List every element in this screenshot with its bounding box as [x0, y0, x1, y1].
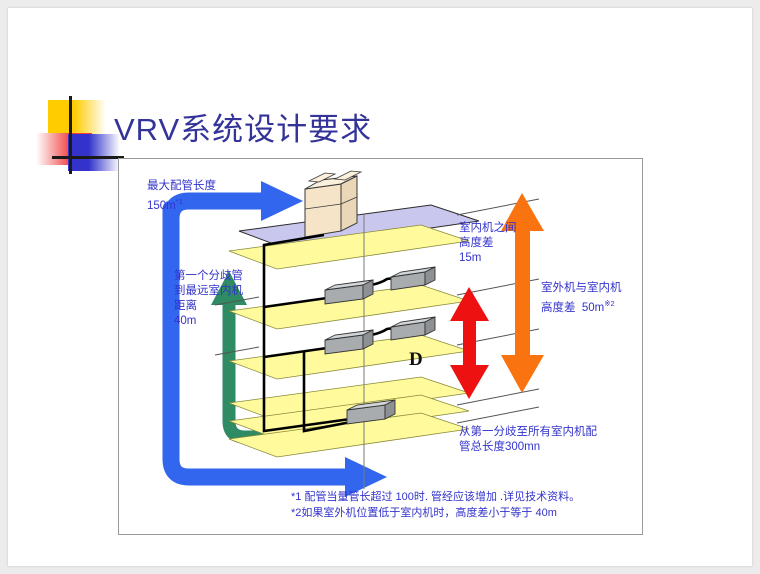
label-indoor-height-diff-line1: 室内机之间: [459, 221, 517, 236]
label-indoor-height-diff: 室内机之间 高度差 15m: [459, 221, 517, 266]
footnote-1: *1 配管当量管长超过 100时. 管经应该增加 .详见技术资料。: [291, 489, 580, 505]
label-max-pipe-length-line1: 最大配管长度: [147, 179, 216, 194]
leader-line-floor6: [457, 407, 539, 423]
label-first-branch-value: 40m: [174, 314, 243, 329]
label-max-pipe-length-value: 150m: [147, 200, 176, 212]
label-total-pipe-length: 从第一分歧至所有室内机配 管总长度300mn: [459, 425, 597, 455]
label-first-branch-line2: 到最远室内机: [174, 284, 243, 299]
vrv-system-diagram: [119, 159, 644, 536]
label-indoor-height-diff-value: 15m: [459, 251, 517, 266]
label-total-pipe-length-line1: 从第一分歧至所有室内机配: [459, 425, 597, 440]
label-total-pipe-length-line2: 管总长度300mn: [459, 440, 597, 455]
label-outdoor-indoor-height-diff-line1: 室外机与室内机: [541, 281, 622, 296]
label-outdoor-indoor-height-diff-line2: 高度差: [541, 302, 576, 314]
logo-horizontal-line: [52, 156, 124, 159]
label-outdoor-indoor-height-diff-sup: ※2: [604, 299, 614, 308]
red-double-arrow: [450, 287, 489, 399]
logo-blue-square: [68, 134, 120, 171]
indoor-unit: [391, 317, 435, 340]
label-first-branch-line3: 距离: [174, 299, 243, 314]
indoor-unit: [391, 267, 435, 290]
presentation-slide: VRV系统设计要求: [8, 8, 752, 566]
footnotes: *1 配管当量管长超过 100时. 管经应该增加 .详见技术资料。 *2如果室外…: [291, 489, 580, 521]
distance-marker-d: D: [409, 349, 423, 371]
label-outdoor-indoor-height-diff: 室外机与室内机 高度差 50m※2: [541, 281, 622, 316]
label-max-pipe-length: 最大配管长度 150m*1: [147, 179, 216, 214]
decorative-squares-logo: [36, 96, 124, 174]
diagram-frame: 最大配管长度 150m*1 第一个分歧管 到最远室内机 距离 40m 室内机之间…: [118, 158, 643, 535]
footnote-2: *2如果室外机位置低于室内机时，高度差小于等于 40m: [291, 505, 580, 521]
leader-line-left-floor3: [215, 347, 259, 355]
label-first-branch-line1: 第一个分歧管: [174, 269, 243, 284]
page-title: VRV系统设计要求: [114, 104, 372, 149]
label-first-branch: 第一个分歧管 到最远室内机 距离 40m: [174, 269, 243, 329]
label-max-pipe-length-sup: *1: [176, 197, 183, 206]
logo-vertical-line: [69, 96, 72, 174]
blue-arrow-head-top: [261, 181, 303, 221]
label-outdoor-indoor-height-diff-value: 50m: [582, 302, 604, 314]
label-indoor-height-diff-line2: 高度差: [459, 236, 517, 251]
